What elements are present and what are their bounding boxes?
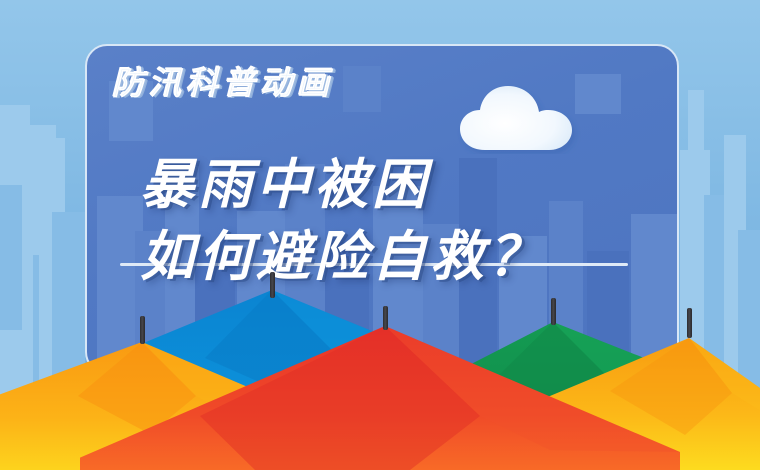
poster-root: 防汛科普动画 暴雨中被困 如何避险自救？ (0, 0, 760, 470)
umbrella-pole-orange-left (140, 316, 145, 344)
umbrella-pole-orange-right (687, 308, 692, 338)
umbrella-pole-red (383, 306, 388, 330)
umbrella-pole-green (551, 298, 556, 325)
umbrella-red (80, 320, 680, 470)
umbrella-group (0, 0, 760, 470)
umbrella-pole-blue (270, 272, 275, 298)
